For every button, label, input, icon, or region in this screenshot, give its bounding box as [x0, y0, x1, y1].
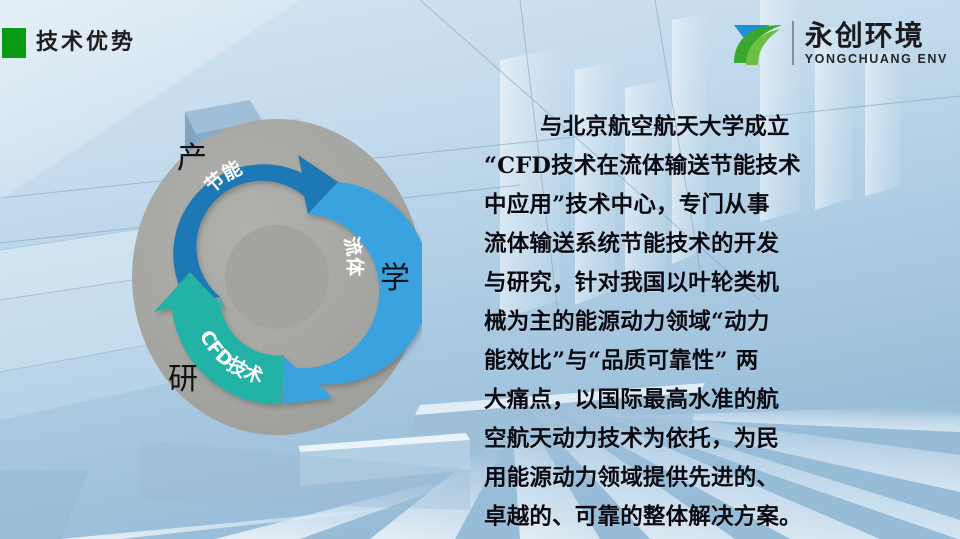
- diagram-inner-hub: [225, 225, 329, 329]
- paragraph-line: 大痛点，以国际最高水准的航: [484, 381, 878, 420]
- paragraph-line: 中应用”技术中心，专门从事: [484, 186, 878, 225]
- ring-label-study: 学: [380, 264, 410, 294]
- logo-wordmark: 永创环境 YONGCHUANG ENV: [805, 21, 948, 66]
- paragraph-line: “CFD技术在流体输送节能技术: [484, 147, 878, 186]
- logo-name-cn: 永创环境: [805, 21, 948, 51]
- paragraph-line: 空航天动力技术为依托，为民: [484, 420, 878, 459]
- paragraph-line: 流体输送系统节能技术的开发: [484, 225, 878, 264]
- logo-divider: [792, 21, 794, 65]
- paragraph-line: 与研究，针对我国以叶轮类机: [484, 264, 878, 303]
- slide-header: 技术优势 永创环境 YONGCHUANG ENV: [0, 0, 960, 88]
- paragraph-line: 用能源动力领域提供先进的、: [484, 459, 878, 498]
- yongchuang-leaf-logo-icon: [730, 19, 786, 67]
- ring-label-production: 产: [177, 144, 207, 174]
- body-paragraph: 与北京航空航天大学成立 “CFD技术在流体输送节能技术 中应用”技术中心，专门从…: [484, 108, 878, 537]
- logo-name-en: YONGCHUANG ENV: [805, 52, 948, 66]
- page-title: 技术优势: [36, 28, 136, 58]
- company-logo: 永创环境 YONGCHUANG ENV: [730, 14, 948, 72]
- cycle-diagram: 节能 流体 CFD技术 产 学 研: [132, 112, 422, 442]
- paragraph-line: 与北京航空航天大学成立: [484, 108, 878, 147]
- ring-label-research: 研: [168, 365, 198, 395]
- paragraph-line: 械为主的能源动力领域“动力: [484, 303, 878, 342]
- slide-canvas: 技术优势 永创环境 YONGCHUANG ENV: [0, 0, 960, 539]
- paragraph-line: 卓越的、可靠的整体解决方案。: [484, 498, 878, 537]
- paragraph-line: 能效比”与“品质可靠性” 两: [484, 342, 878, 381]
- title-marker-icon: [2, 28, 26, 58]
